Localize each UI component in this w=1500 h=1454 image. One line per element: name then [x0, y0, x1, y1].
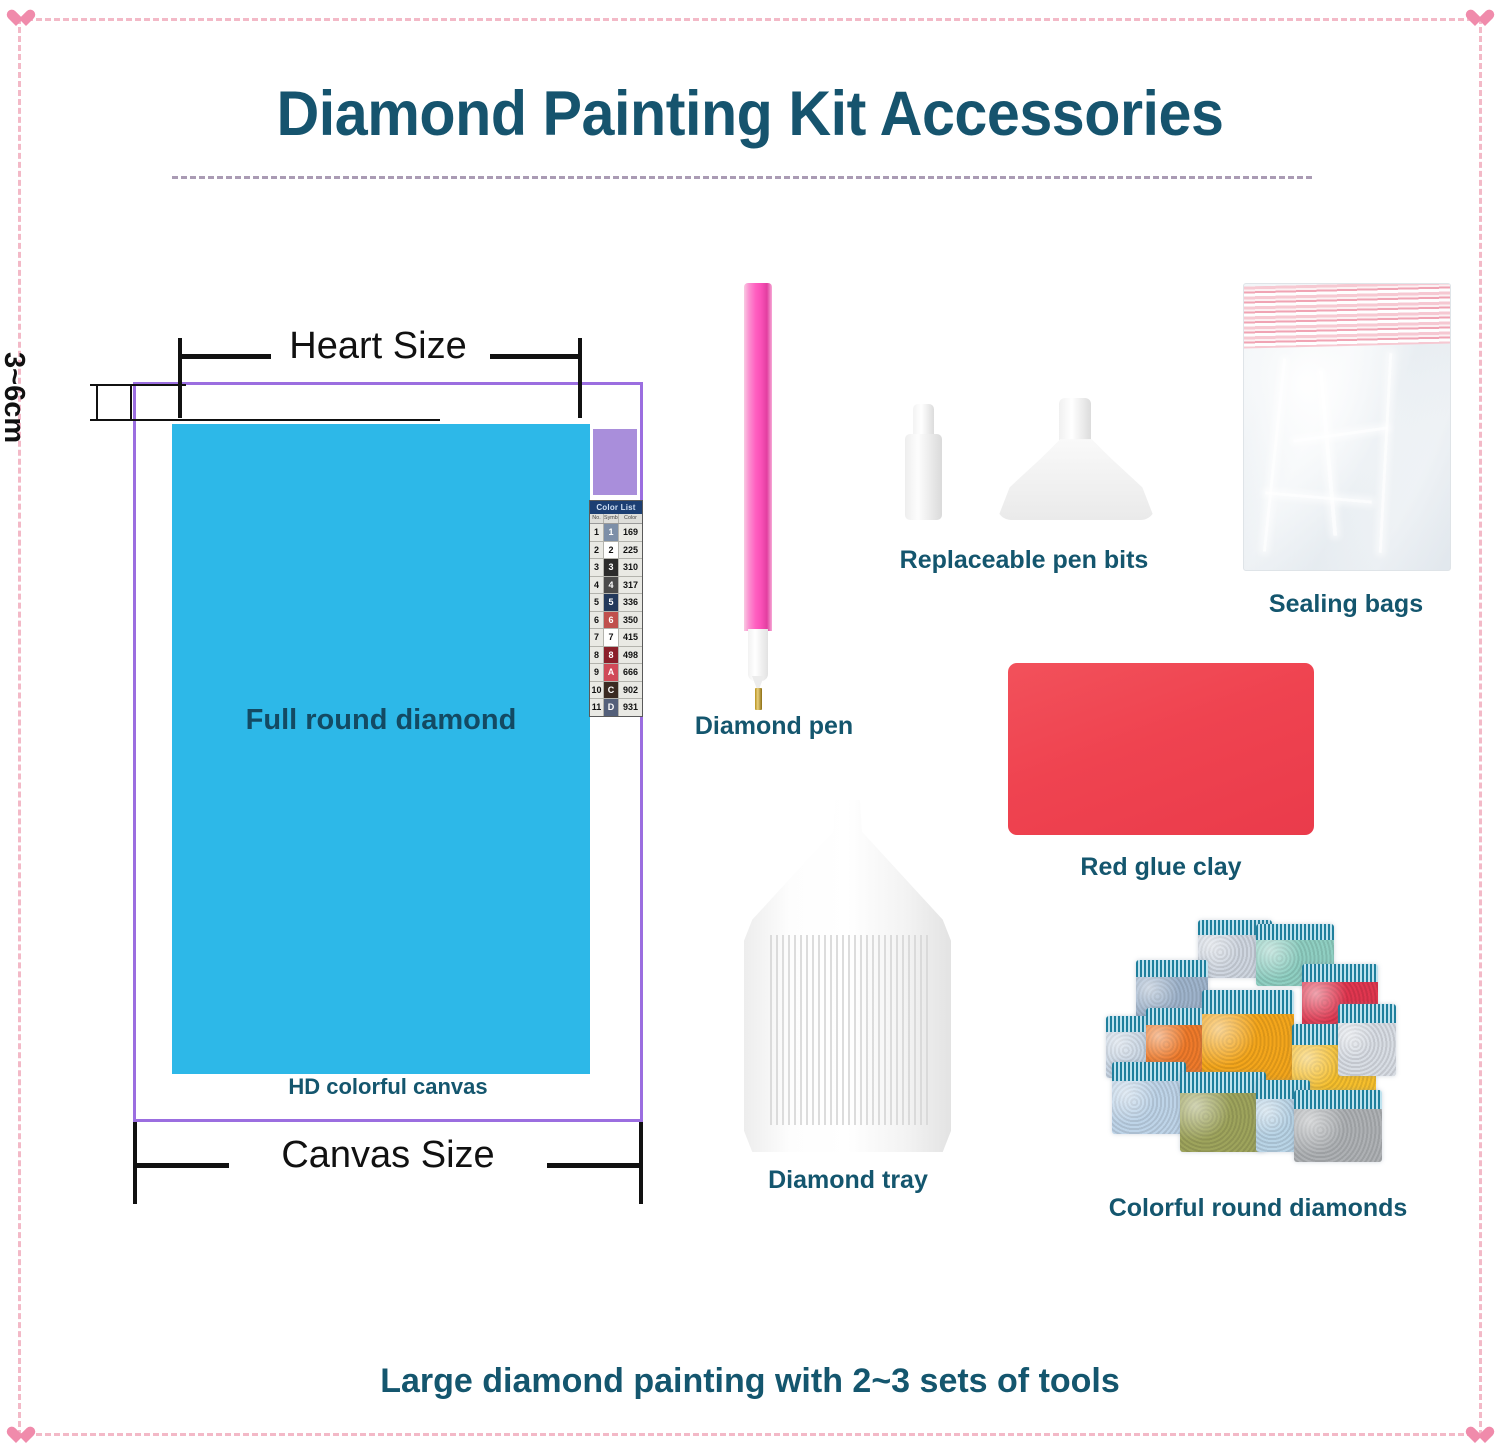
colorful-round-diamonds-illustration [1106, 920, 1406, 1170]
caption-diamond-pen: Diamond pen [660, 712, 888, 741]
cell-color: 310 [619, 559, 642, 576]
bag-crease [1265, 491, 1372, 503]
cell-symbol: C [604, 682, 619, 699]
cell-color: 169 [619, 524, 642, 541]
cell-no: 11 [590, 699, 604, 716]
cell-color: 498 [619, 647, 642, 664]
diamond-tray-illustration [744, 800, 951, 1152]
caption-replaceable-pen-bits: Replaceable pen bits [870, 546, 1178, 575]
pen-shaft [744, 283, 772, 631]
cell-color: 317 [619, 577, 642, 594]
header-symbol: Symbol [604, 514, 619, 523]
tray-grooves [766, 935, 929, 1125]
color-list-header-row: No. Symbol Color [590, 514, 642, 524]
cell-symbol: 6 [604, 612, 619, 629]
bead-bag-zipper [1112, 1062, 1186, 1081]
bead-bag-zipper [1180, 1072, 1266, 1093]
margin-dim-tick-outer [96, 384, 98, 421]
color-list-table: Color List No. Symbol Color 111692222533… [589, 500, 643, 717]
color-list-row: 10C902 [590, 682, 642, 700]
heart-dim-tick-right [578, 338, 582, 418]
pen-metal-nib [755, 688, 762, 710]
cell-no: 6 [590, 612, 604, 629]
cell-no: 5 [590, 594, 604, 611]
header-no: No. [590, 514, 604, 523]
bead-bag [1294, 1090, 1382, 1162]
bead-bag-zipper [1294, 1090, 1382, 1109]
footer-caption: Large diamond painting with 2~3 sets of … [0, 1362, 1500, 1401]
pen-bit-narrow-stem [913, 404, 934, 436]
infographic-page: Diamond Painting Kit Accessories Color L… [0, 0, 1500, 1454]
color-list-row: 77415 [590, 629, 642, 647]
pen-bit-narrow-body [905, 434, 942, 520]
bead-bag-fill [1294, 1109, 1382, 1162]
cell-symbol: 7 [604, 629, 619, 646]
cell-no: 2 [590, 542, 604, 559]
canvas-printed-area [172, 424, 590, 1074]
cell-symbol: 2 [604, 542, 619, 559]
color-list-title: Color List [590, 501, 642, 514]
bead-bag [1180, 1072, 1266, 1152]
bag-crease [1263, 359, 1286, 553]
bead-bag-zipper [1256, 924, 1334, 940]
cell-symbol: 8 [604, 647, 619, 664]
sealing-bag-illustration [1243, 283, 1451, 571]
bead-bag-fill [1338, 1023, 1396, 1076]
heart-icon-bottom-left [11, 1427, 31, 1445]
bead-bag-zipper [1202, 990, 1294, 1014]
color-list-row: 44317 [590, 577, 642, 595]
cell-no: 9 [590, 664, 604, 681]
canvas-size-label: Canvas Size [133, 1134, 643, 1177]
bead-bag-zipper [1136, 960, 1208, 977]
bead-bag [1202, 990, 1294, 1082]
caption-sealing-bags: Sealing bags [1196, 590, 1496, 619]
bead-bag-fill [1112, 1081, 1186, 1134]
cell-color: 415 [619, 629, 642, 646]
margin-size-label: 3~6cm [0, 352, 30, 443]
margin-dim-extension [90, 419, 440, 421]
bag-crease [1379, 353, 1392, 553]
pen-bit-wide-stem [1059, 398, 1091, 440]
heart-icon-bottom-right [1470, 1427, 1490, 1445]
cell-color: 336 [619, 594, 642, 611]
cell-no: 3 [590, 559, 604, 576]
cell-no: 10 [590, 682, 604, 699]
cell-color: 350 [619, 612, 642, 629]
cell-color: 902 [619, 682, 642, 699]
bead-bag [1338, 1004, 1396, 1076]
bag-crease [1294, 426, 1388, 442]
color-list-row: 11169 [590, 524, 642, 542]
cell-color: 225 [619, 542, 642, 559]
cell-color: 931 [619, 699, 642, 716]
cell-symbol: A [604, 664, 619, 681]
cell-symbol: D [604, 699, 619, 716]
bag-crease [1319, 370, 1337, 536]
cell-symbol: 1 [604, 524, 619, 541]
cell-symbol: 4 [604, 577, 619, 594]
bead-bag-zipper [1302, 964, 1378, 982]
bead-bag-zipper [1338, 1004, 1396, 1023]
color-list-row: 33310 [590, 559, 642, 577]
color-list-body: 1116922225333104431755336663507741588498… [590, 524, 642, 716]
pen-neck [748, 629, 768, 681]
cell-no: 7 [590, 629, 604, 646]
caption-red-glue-clay: Red glue clay [1008, 853, 1314, 882]
color-list-row: 22225 [590, 542, 642, 560]
cell-no: 1 [590, 524, 604, 541]
color-list-row: 11D931 [590, 699, 642, 716]
heart-icon-top-right [1470, 10, 1490, 28]
caption-diamond-tray: Diamond tray [724, 1166, 972, 1195]
color-list-row: 55336 [590, 594, 642, 612]
color-list-row: 66350 [590, 612, 642, 630]
caption-colorful-round-diamonds: Colorful round diamonds [1096, 1194, 1420, 1223]
bead-bag [1112, 1062, 1186, 1134]
heart-size-label: Heart Size [178, 325, 578, 368]
bead-bag-fill [1180, 1093, 1266, 1152]
bag-zipper-strip [1244, 283, 1450, 349]
cell-no: 8 [590, 647, 604, 664]
canvas-size-diagram: Color List No. Symbol Color 111692222533… [0, 0, 700, 1260]
cell-no: 4 [590, 577, 604, 594]
margin-dim-arm-top [90, 384, 186, 386]
red-glue-clay-illustration [1008, 663, 1314, 835]
cell-symbol: 5 [604, 594, 619, 611]
cell-color: 666 [619, 664, 642, 681]
color-list-row: 88498 [590, 647, 642, 665]
margin-dim-tick-inner [130, 384, 132, 421]
color-swatch-block [592, 428, 638, 496]
header-color: Color [619, 514, 642, 523]
hd-canvas-label: HD colorful canvas [133, 1074, 643, 1100]
pen-bit-wide-flare [997, 434, 1155, 520]
full-round-diamond-label: Full round diamond [172, 704, 590, 737]
cell-symbol: 3 [604, 559, 619, 576]
color-list-row: 9A666 [590, 664, 642, 682]
